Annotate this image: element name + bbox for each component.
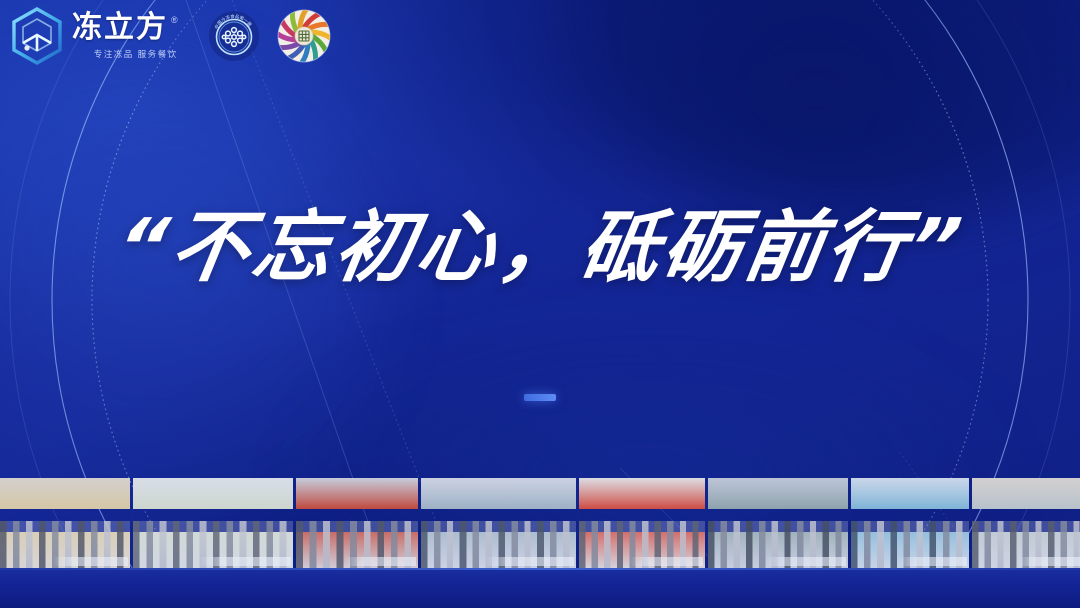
photo-caption-bar (1018, 557, 1080, 566)
title-accent-divider (524, 394, 556, 401)
brand-name: 冻立方 (72, 13, 168, 43)
photo-thumbnail (708, 478, 848, 568)
photo-tint-overlay (708, 478, 848, 568)
photo-caption-bar (53, 557, 128, 566)
photo-thumbnail (133, 478, 293, 568)
presentation-slide: 冻立方 ® 专注冻品 服务餐饮 (0, 0, 1080, 608)
photo-caption-bar (484, 557, 574, 566)
background-blob-top-right (560, 0, 1080, 220)
photo-caption-bar (899, 557, 967, 566)
brand-tagline: 专注冻品 服务餐饮 (72, 48, 178, 60)
photo-tint-overlay (133, 478, 293, 568)
header-logo-bar: 冻立方 ® 专注冻品 服务餐饮 (0, 0, 332, 72)
photo-tint-overlay (0, 478, 130, 568)
photo-tint-overlay (851, 478, 969, 568)
radial-petals-circle-icon[interactable] (276, 8, 332, 64)
snowflake-circle-icon[interactable]: 中国冷冻食品第一展 (208, 10, 260, 62)
photo-tint-overlay (579, 478, 705, 568)
photo-caption-bar (198, 557, 291, 566)
slide-title-wrap: “不忘初心，砥砺前行” (0, 206, 1080, 290)
bottom-band-highlight (0, 568, 1080, 570)
page-title: “不忘初心，砥砺前行” (110, 206, 970, 290)
hexagon-cube-icon (10, 7, 64, 65)
donglifang-logo[interactable]: 冻立方 ® 专注冻品 服务餐饮 (10, 7, 194, 65)
photo-thumbnail (296, 478, 418, 568)
photo-thumbnail (972, 478, 1080, 568)
photo-thumbnail (851, 478, 969, 568)
bottom-band (0, 568, 1080, 608)
photo-caption-bar (630, 557, 703, 566)
photo-thumbnail (421, 478, 576, 568)
photo-tint-overlay (421, 478, 576, 568)
photo-tint-overlay (972, 478, 1080, 568)
photo-tint-overlay (296, 478, 418, 568)
photo-caption-bar (765, 557, 846, 566)
photo-thumbnail (579, 478, 705, 568)
registered-mark: ® (171, 15, 178, 25)
photo-thumbnail (0, 478, 130, 568)
photo-caption-bar (345, 557, 416, 566)
exhibition-photo-strip (0, 478, 1080, 568)
